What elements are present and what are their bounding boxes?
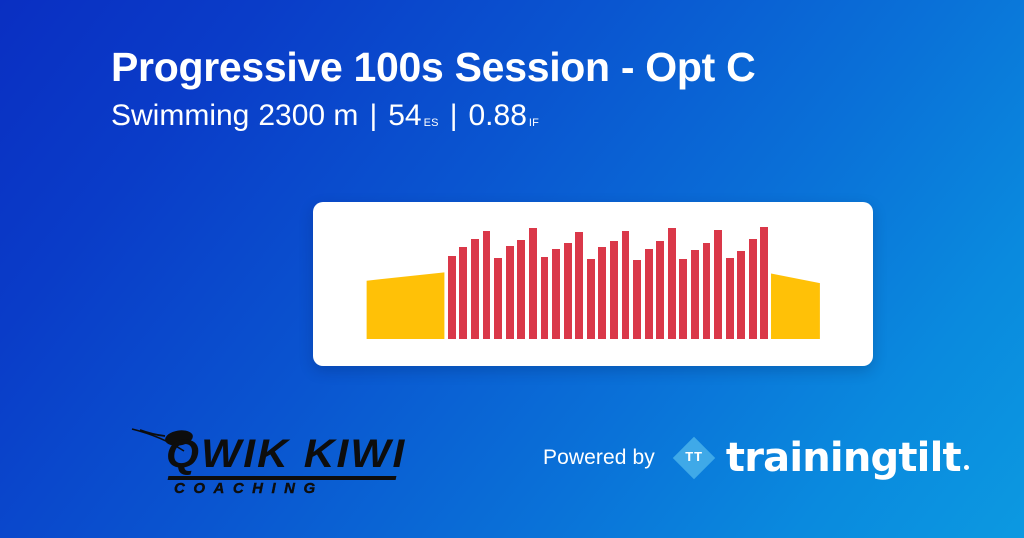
workout-bar-fill <box>633 260 641 339</box>
workout-bar-fill <box>598 247 606 339</box>
workout-bar <box>597 220 609 339</box>
sport-label: Swimming <box>111 98 249 134</box>
workout-bar <box>747 220 759 339</box>
training-tilt-word-one: training <box>726 438 898 478</box>
workout-bar-fill <box>714 230 722 339</box>
header: Progressive 100s Session - Opt C Swimmin… <box>111 44 941 134</box>
workout-chart-plot <box>365 220 821 339</box>
powered-by-block: Powered by TT training tilt <box>543 436 969 480</box>
workout-bar <box>504 220 516 339</box>
qwik-kiwi-tagline: COACHING <box>174 480 324 497</box>
workout-bar-fill <box>726 258 734 339</box>
metric-es-unit: ES <box>424 117 439 130</box>
workout-bar <box>678 220 690 339</box>
footer: QWIK KIWI COACHING Powered by TT trainin… <box>0 422 1024 502</box>
workout-segment-block <box>365 220 446 339</box>
metric-if-value: 0.88 <box>468 98 526 134</box>
workout-bar <box>573 220 585 339</box>
workout-bar-fill <box>737 251 745 339</box>
training-tilt-wordmark: training tilt <box>726 438 969 478</box>
workout-bar-fill <box>529 228 537 339</box>
workout-bar <box>458 220 470 339</box>
workout-bar-fill <box>622 231 630 339</box>
workout-bar-fill <box>494 258 502 339</box>
workout-bar <box>515 220 527 339</box>
session-summary: Swimming 2300 m | 54 ES | 0.88 IF <box>111 98 941 134</box>
workout-bar <box>712 220 724 339</box>
metric-if: 0.88 IF <box>468 98 539 134</box>
workout-bar <box>689 220 701 339</box>
workout-bar <box>539 220 551 339</box>
metric-es: 54 ES <box>388 98 438 134</box>
segment-cool-down-shape <box>770 220 821 339</box>
workout-bar-fill <box>541 257 549 339</box>
qwik-kiwi-logo: QWIK KIWI COACHING <box>132 426 402 488</box>
workout-bar <box>585 220 597 339</box>
workout-bar-fill <box>656 241 664 339</box>
workout-bar <box>666 220 678 339</box>
workout-bar <box>701 220 713 339</box>
workout-bar-fill <box>471 239 479 339</box>
workout-bar-fill <box>691 250 699 339</box>
workout-bar <box>492 220 504 339</box>
workout-bar <box>724 220 736 339</box>
workout-bar <box>550 220 562 339</box>
metric-es-value: 54 <box>388 98 421 134</box>
training-tilt-word-two: tilt <box>898 438 960 478</box>
metric-if-unit: IF <box>529 117 539 130</box>
workout-bar <box>620 220 632 339</box>
segment-warm-up-shape <box>365 220 446 339</box>
workout-bar <box>469 220 481 339</box>
summary-separator-2: | <box>450 98 458 134</box>
workout-bar-fill <box>564 243 572 339</box>
workout-bar-fill <box>506 246 514 339</box>
training-tilt-diamond-icon: TT <box>672 436 716 480</box>
workout-bar <box>608 220 620 339</box>
workout-bar <box>654 220 666 339</box>
workout-bar-fill <box>587 259 595 339</box>
workout-bar-fill <box>459 247 467 339</box>
qwik-kiwi-wordmark: QWIK KIWI <box>166 434 406 474</box>
workout-bar <box>759 220 771 339</box>
workout-bar-fill <box>552 249 560 339</box>
workout-bar-fill <box>483 231 491 339</box>
workout-bar-fill <box>760 227 768 339</box>
workout-bar-fill <box>668 228 676 339</box>
workout-bar-fill <box>448 256 456 339</box>
workout-bar <box>562 220 574 339</box>
page-title: Progressive 100s Session - Opt C <box>111 44 941 92</box>
workout-bar-fill <box>703 243 711 339</box>
workout-segment-block <box>770 220 821 339</box>
workout-bar-fill <box>610 241 618 339</box>
workout-bar-fill <box>575 232 583 339</box>
workout-chart-card <box>313 202 873 366</box>
workout-bar <box>735 220 747 339</box>
workout-bar <box>643 220 655 339</box>
powered-by-label: Powered by <box>543 446 655 470</box>
training-tilt-dot <box>964 465 969 470</box>
workout-bar <box>631 220 643 339</box>
workout-bar-fill <box>517 240 525 339</box>
workout-bar-fill <box>645 249 653 339</box>
session-poster: Progressive 100s Session - Opt C Swimmin… <box>0 0 1024 538</box>
workout-bar <box>481 220 493 339</box>
workout-bar-fill <box>749 239 757 339</box>
summary-separator-1: | <box>369 98 377 134</box>
distance-label: 2300 m <box>258 98 358 134</box>
training-tilt-badge-label: TT <box>685 450 703 466</box>
workout-bar <box>446 220 458 339</box>
workout-bar <box>527 220 539 339</box>
workout-bars-container <box>365 220 821 339</box>
workout-bar-fill <box>679 259 687 339</box>
